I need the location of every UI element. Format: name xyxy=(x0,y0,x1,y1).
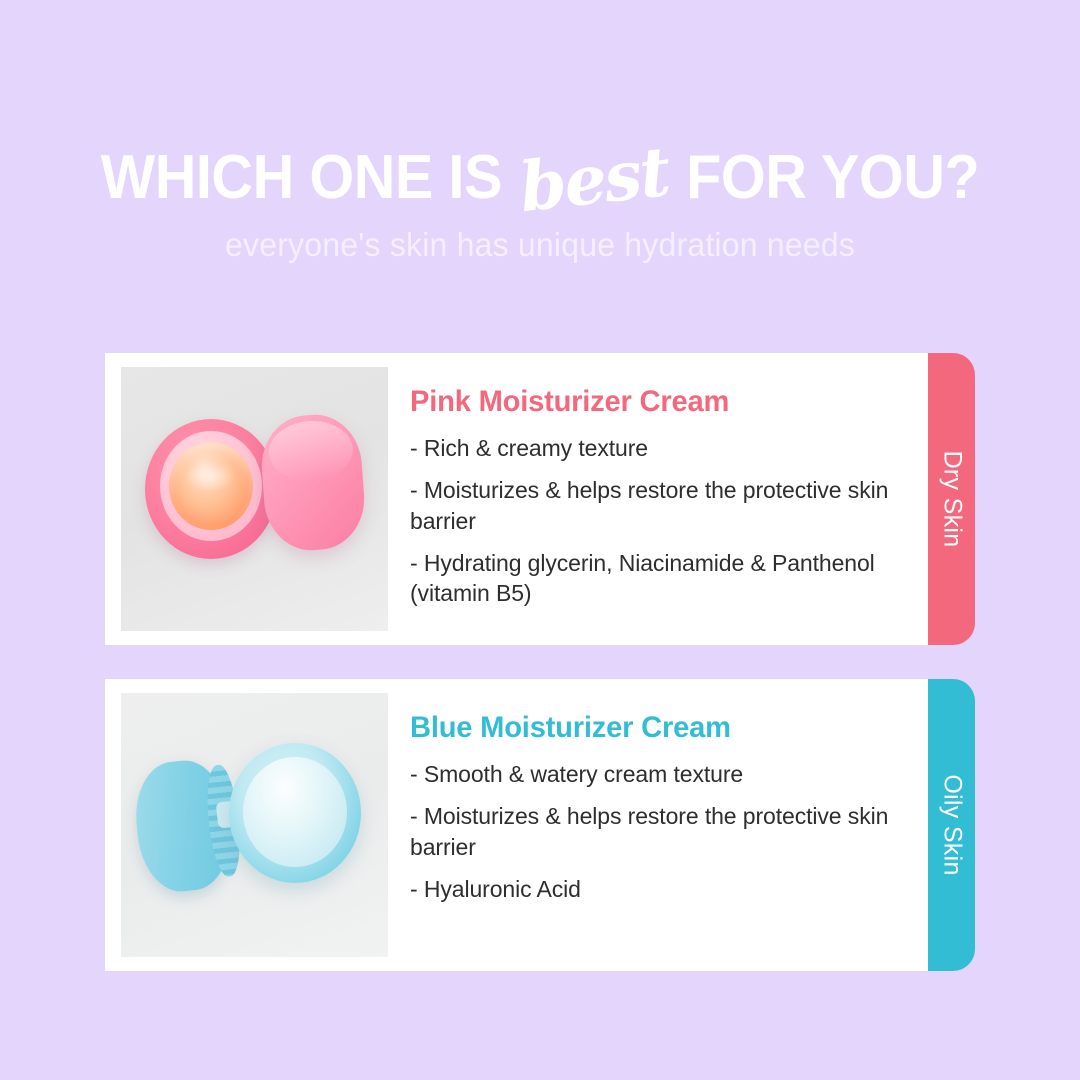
skin-type-tab-label: Dry Skin xyxy=(937,451,966,548)
card-body: Blue Moisturizer Cream - Smooth & watery… xyxy=(105,679,928,971)
card-bullet: - Rich & creamy texture xyxy=(410,433,906,463)
product-image-pink xyxy=(121,367,388,631)
product-card-pink[interactable]: Pink Moisturizer Cream - Rich & creamy t… xyxy=(105,353,975,645)
card-text-pink: Pink Moisturizer Cream - Rich & creamy t… xyxy=(388,367,928,621)
card-body: Pink Moisturizer Cream - Rich & creamy t… xyxy=(105,353,928,645)
card-bullet: - Moisturizes & helps restore the protec… xyxy=(410,475,906,536)
page-title: WHICH ONE IS best FOR YOU? xyxy=(38,0,1042,210)
skin-type-tab-dry[interactable]: Dry Skin xyxy=(928,353,975,645)
header: WHICH ONE IS best FOR YOU? everyone's sk… xyxy=(0,0,1080,264)
card-bullet: - Hydrating glycerin, Niacinamide & Pant… xyxy=(410,548,906,609)
jar-cream-icon xyxy=(169,442,253,530)
product-card-blue[interactable]: Blue Moisturizer Cream - Smooth & watery… xyxy=(105,679,975,971)
card-text-blue: Blue Moisturizer Cream - Smooth & watery… xyxy=(388,693,928,916)
skin-type-tab-label: Oily Skin xyxy=(937,774,966,875)
page-subtitle: everyone's skin has unique hydration nee… xyxy=(16,210,1064,264)
card-bullet: - Hyaluronic Acid xyxy=(410,874,906,904)
card-title-blue: Blue Moisturizer Cream xyxy=(410,711,891,745)
skin-type-tab-oily[interactable]: Oily Skin xyxy=(928,679,975,971)
card-bullet: - Moisturizes & helps restore the protec… xyxy=(410,801,906,862)
jar-lid-icon xyxy=(258,412,367,554)
card-title-pink: Pink Moisturizer Cream xyxy=(410,385,891,419)
card-bullet: - Smooth & watery cream texture xyxy=(410,759,906,789)
headline-part-one: WHICH ONE IS xyxy=(101,142,502,214)
jar-base-icon xyxy=(229,743,361,883)
product-image-blue xyxy=(121,693,388,957)
headline-part-two: FOR YOU? xyxy=(686,142,979,214)
